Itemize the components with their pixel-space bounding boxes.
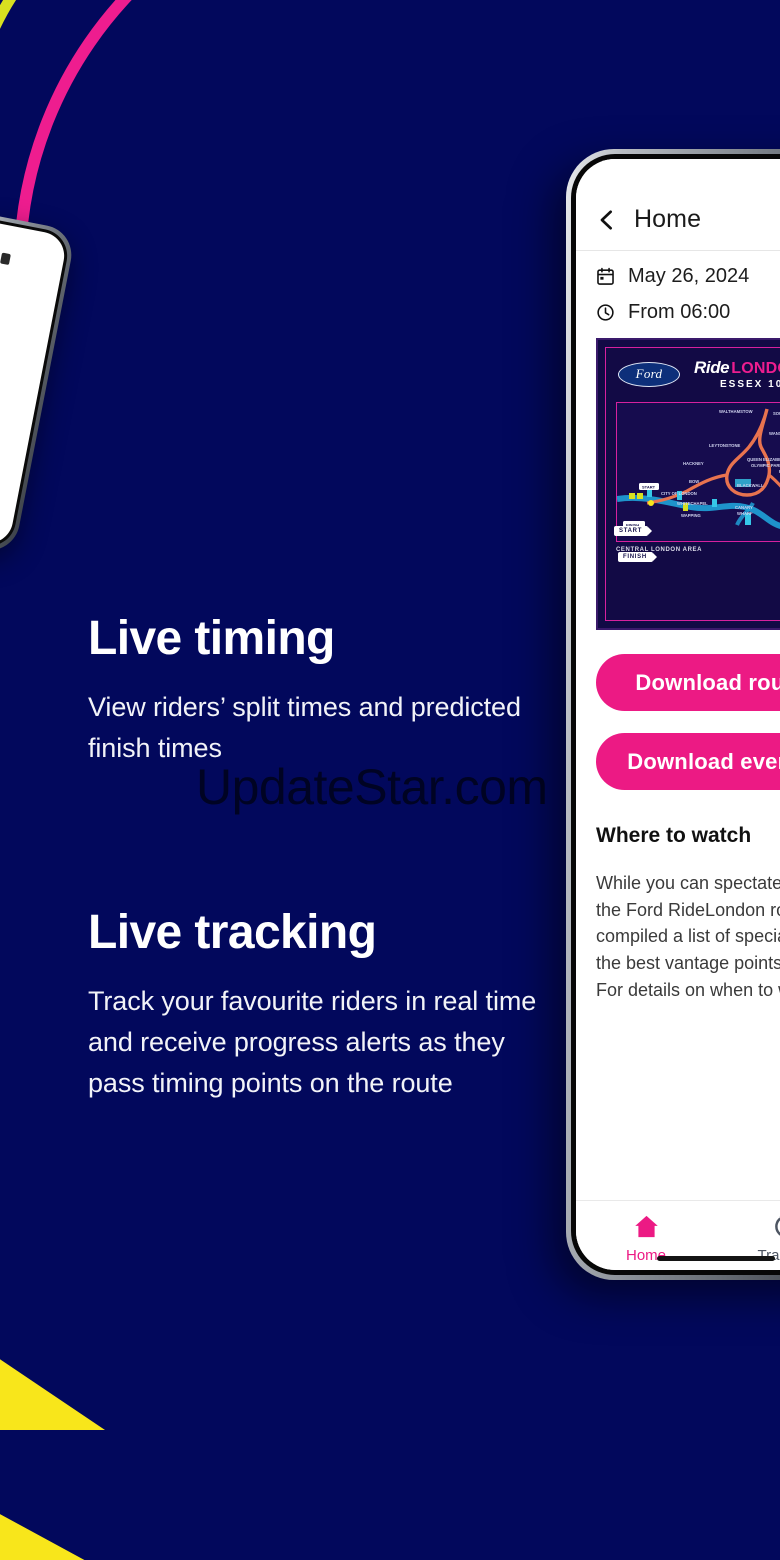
download-buttons: Download route map Download event guide [576,630,780,812]
central-london-inset-map: WALTHAMSTOW SOUTH WOODFORD WANSTEAD LEYT… [616,402,780,542]
start-tag: START [614,526,648,536]
secondary-screen-glyph2-icon [0,253,11,266]
svg-text:CANARY: CANARY [735,505,753,510]
svg-text:OLYMPIC PARK: OLYMPIC PARK [751,463,780,468]
home-indicator [657,1256,775,1261]
event-time: From 06:00 [628,301,730,324]
download-route-map-button[interactable]: Download route map [596,654,780,711]
svg-text:WANSTEAD: WANSTEAD [769,431,780,436]
download-event-guide-button[interactable]: Download event guide [596,733,780,790]
feature-block-live-timing: Live timing View riders’ split times and… [88,614,558,769]
ford-logo-text: Ford [636,366,663,382]
tracking-icon [773,1213,780,1240]
svg-text:BLACKWALL: BLACKWALL [737,483,764,488]
essex-word: ESSEX 100 [720,380,780,390]
primary-phone-mockup: Home May 26, 2024 From 06:00 [566,149,780,1280]
ridelondon-logo: Ride LONDON ESSEX 100 [694,359,780,390]
inset-start-tag: START [639,483,659,490]
live-tracking-headline: Live tracking [88,908,558,959]
page-title: Home [634,205,701,234]
ford-logo-icon: Ford [618,362,680,387]
primary-phone-bezel: Home May 26, 2024 From 06:00 [571,154,780,1275]
svg-text:START: START [642,485,656,490]
svg-text:LEYTONSTONE: LEYTONSTONE [709,443,740,448]
event-date-row: May 26, 2024 [596,265,780,288]
london-word: LONDON [731,361,780,377]
chevron-left-icon[interactable] [596,209,618,231]
live-tracking-body: Track your favourite riders in real time… [88,981,558,1105]
where-to-watch-section: Where to watch While you can spectate an… [576,812,780,1200]
svg-text:BOW: BOW [689,479,699,484]
svg-text:WALTHAMSTOW: WALTHAMSTOW [719,409,753,414]
finish-tag: FINISH [618,552,653,562]
route-map-card[interactable]: Ford Ride LONDON ESSEX 100 [596,338,780,630]
where-to-watch-body: While you can spectate anywhere along th… [596,870,780,1003]
ridelondon-logo-top: Ride LONDON [694,359,780,377]
svg-text:WAPPING: WAPPING [681,513,701,518]
live-timing-headline: Live timing [88,614,558,665]
calendar-icon [596,267,615,286]
svg-text:QUEEN ELIZABETH: QUEEN ELIZABETH [747,457,780,462]
clock-icon [596,303,615,322]
home-icon [633,1213,660,1240]
feature-block-live-tracking: Live tracking Track your favourite rider… [88,908,558,1105]
where-to-watch-title: Where to watch [596,824,780,848]
inset-map-graphic: WALTHAMSTOW SOUTH WOODFORD WANSTEAD LEYT… [617,403,780,542]
app-screen: Home May 26, 2024 From 06:00 [576,159,780,1270]
ride-word: Ride [694,359,729,376]
live-timing-body: View riders’ split times and predicted f… [88,687,558,770]
svg-text:SOUTH WOODFORD: SOUTH WOODFORD [773,411,780,416]
event-date: May 26, 2024 [628,265,749,288]
map-brand-bar: Ford Ride LONDON ESSEX 100 [618,354,780,394]
svg-text:WHITECHAPEL: WHITECHAPEL [677,501,708,506]
svg-text:WHARF: WHARF [737,511,753,516]
event-meta: May 26, 2024 From 06:00 [576,251,780,338]
app-header: Home [576,159,780,251]
svg-text:CITY OF LONDON: CITY OF LONDON [661,491,697,496]
event-time-row: From 06:00 [596,301,780,324]
svg-text:HACKNEY: HACKNEY [683,461,704,466]
